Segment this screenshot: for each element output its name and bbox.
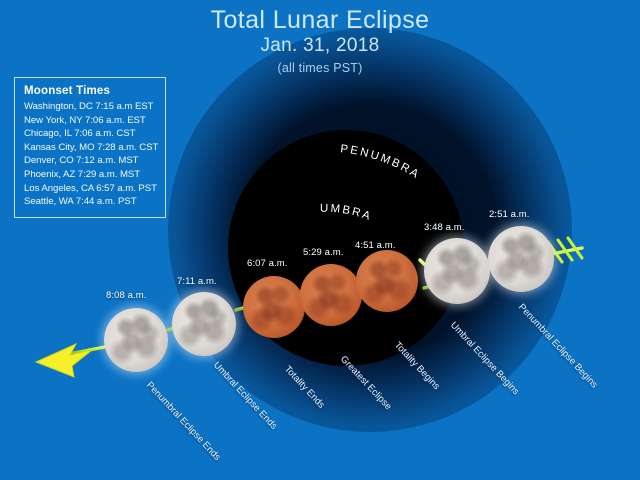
- moon-phase-greatest-eclipse: [300, 264, 362, 326]
- moon-phase-totality-begins: [356, 250, 418, 312]
- time-label-umbral-eclipse-ends: 7:11 a.m.: [177, 276, 217, 287]
- moon-disc: [104, 308, 168, 372]
- eclipse-infographic: 8:08 a.m. 7:11 a.m. 6:07 a.m. 5:29 a.m. …: [0, 0, 640, 480]
- moon-phase-penumbral-eclipse-begins: [488, 226, 554, 292]
- moon-disc: [172, 292, 236, 356]
- moonset-entry: Seattle, WA 7:44 a.m. PST: [24, 195, 157, 209]
- moonset-times-box: Moonset Times Washington, DC 7:15 a.m ES…: [14, 77, 166, 218]
- title-block: Total Lunar Eclipse Jan. 31, 2018 (all t…: [0, 6, 640, 77]
- moon-disc: [243, 276, 305, 338]
- moonset-times-list: Washington, DC 7:15 a.m EST New York, NY…: [24, 100, 157, 209]
- eclipse-date: Jan. 31, 2018: [0, 34, 640, 59]
- moonset-entry: Washington, DC 7:15 a.m EST: [24, 100, 157, 114]
- timezone-note: (all times PST): [0, 59, 640, 78]
- moon-disc: [424, 238, 490, 304]
- time-label-greatest-eclipse: 5:29 a.m.: [303, 247, 344, 258]
- moon-phase-totality-ends: [243, 276, 305, 338]
- time-label-penumbral-eclipse-begins: 2:51 a.m.: [489, 209, 530, 220]
- moonset-entry: Kansas City, MO 7:28 a.m. CST: [24, 141, 157, 155]
- moonset-entry: Los Angeles, CA 6:57 a.m. PST: [24, 182, 157, 196]
- moon-disc: [488, 226, 554, 292]
- moonset-entry: Phoenix, AZ 7:29 a.m. MST: [24, 168, 157, 182]
- moon-phase-penumbral-eclipse-ends: [104, 308, 168, 372]
- time-label-umbral-eclipse-begins: 3:48 a.m.: [424, 222, 465, 233]
- moonset-entry: New York, NY 7:06 a.m. EST: [24, 114, 157, 128]
- time-label-totality-begins: 4:51 a.m.: [355, 240, 396, 251]
- page-title: Total Lunar Eclipse: [0, 6, 640, 34]
- moon-disc: [356, 250, 418, 312]
- time-label-totality-ends: 6:07 a.m.: [247, 258, 288, 269]
- moon-phase-umbral-eclipse-ends: [172, 292, 236, 356]
- moon-phase-umbral-eclipse-begins: [424, 238, 490, 304]
- moon-disc: [300, 264, 362, 326]
- time-label-penumbral-eclipse-ends: 8:08 a.m.: [106, 290, 147, 301]
- arrow-head-left: [36, 344, 92, 377]
- moonset-times-heading: Moonset Times: [24, 85, 157, 97]
- moonset-entry: Denver, CO 7:12 a.m. MST: [24, 154, 157, 168]
- moonset-entry: Chicago, IL 7:06 a.m. CST: [24, 127, 157, 141]
